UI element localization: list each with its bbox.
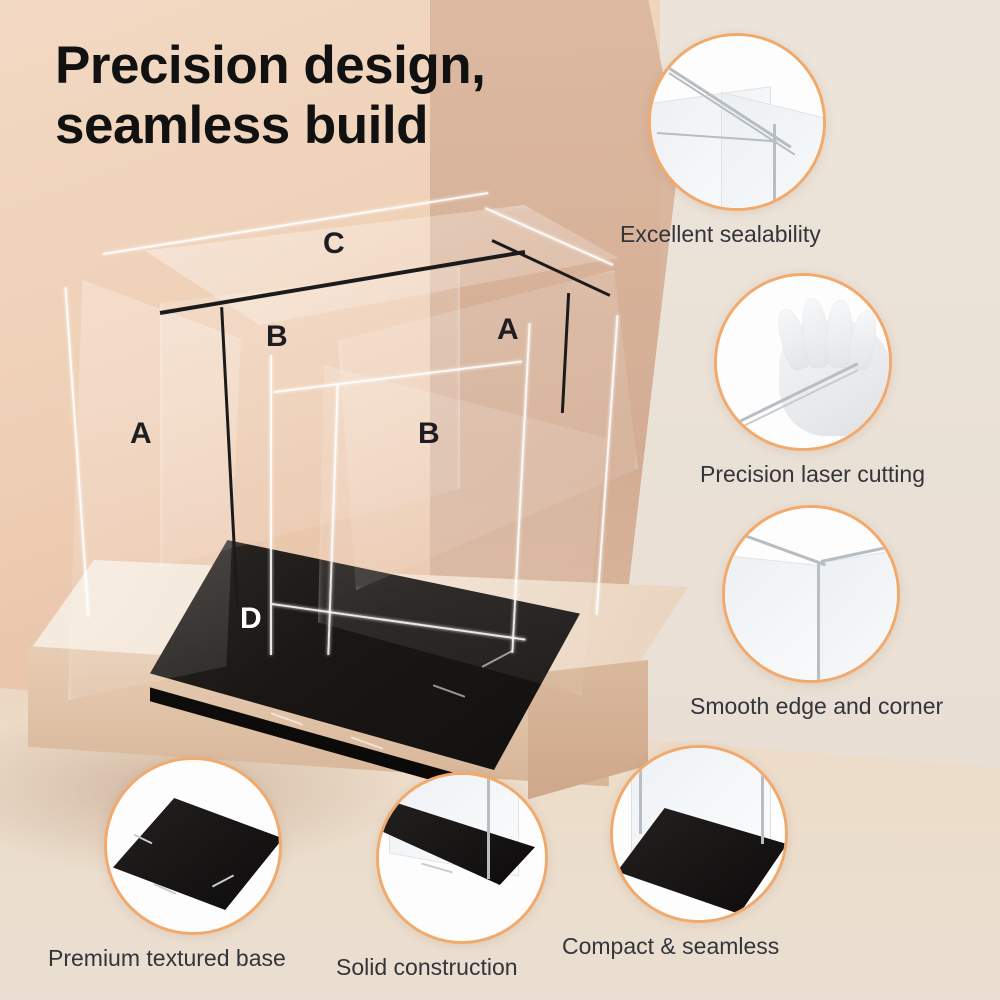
callout-caption: Smooth edge and corner	[690, 693, 1000, 720]
panel-label-c: C	[323, 227, 345, 261]
bubble-photo	[725, 508, 897, 680]
acrylic-corner-joint-icon	[648, 33, 826, 211]
headline-line-1: Precision design,	[55, 36, 575, 96]
callout-precision-laser-cutting[interactable]: Precision laser cutting	[700, 273, 1000, 488]
callout-compact-seamless[interactable]: Compact & seamless	[562, 745, 862, 960]
bubble-photo	[717, 276, 889, 448]
gloved-hand-acrylic-edge-icon	[714, 273, 892, 451]
assembled-case-icon	[610, 745, 788, 923]
base-panel-joint-icon	[376, 772, 548, 944]
callout-caption: Premium textured base	[48, 945, 338, 972]
panel-label-a-upper-right: A	[497, 313, 519, 347]
headline-line-2: seamless build	[55, 96, 575, 156]
callout-excellent-sealability[interactable]: Excellent sealability	[620, 33, 920, 248]
panel-label-d-base: D	[240, 602, 262, 636]
callout-caption: Precision laser cutting	[700, 461, 1000, 488]
acrylic-corner-detail-icon	[722, 505, 900, 683]
panel-label-b-upper: B	[266, 320, 288, 354]
product-exploded-view: C B A A B D	[60, 195, 640, 775]
bubble-photo	[107, 760, 279, 932]
callout-premium-textured-base[interactable]: Premium textured base	[48, 757, 338, 972]
bubble-photo	[379, 775, 545, 941]
panel-b-edge-left	[270, 355, 272, 655]
panel-label-b-right: B	[418, 417, 440, 451]
black-base-plate-icon	[104, 757, 282, 935]
callout-caption: Excellent sealability	[620, 221, 920, 248]
callout-smooth-edge-and-corner[interactable]: Smooth edge and corner	[690, 505, 1000, 720]
bubble-photo	[651, 36, 823, 208]
acrylic-panel-a-left	[68, 280, 248, 700]
bubble-photo	[613, 748, 785, 920]
panel-label-a-left: A	[130, 417, 152, 451]
page-title: Precision design, seamless build	[55, 36, 575, 157]
callout-caption: Compact & seamless	[562, 933, 862, 960]
